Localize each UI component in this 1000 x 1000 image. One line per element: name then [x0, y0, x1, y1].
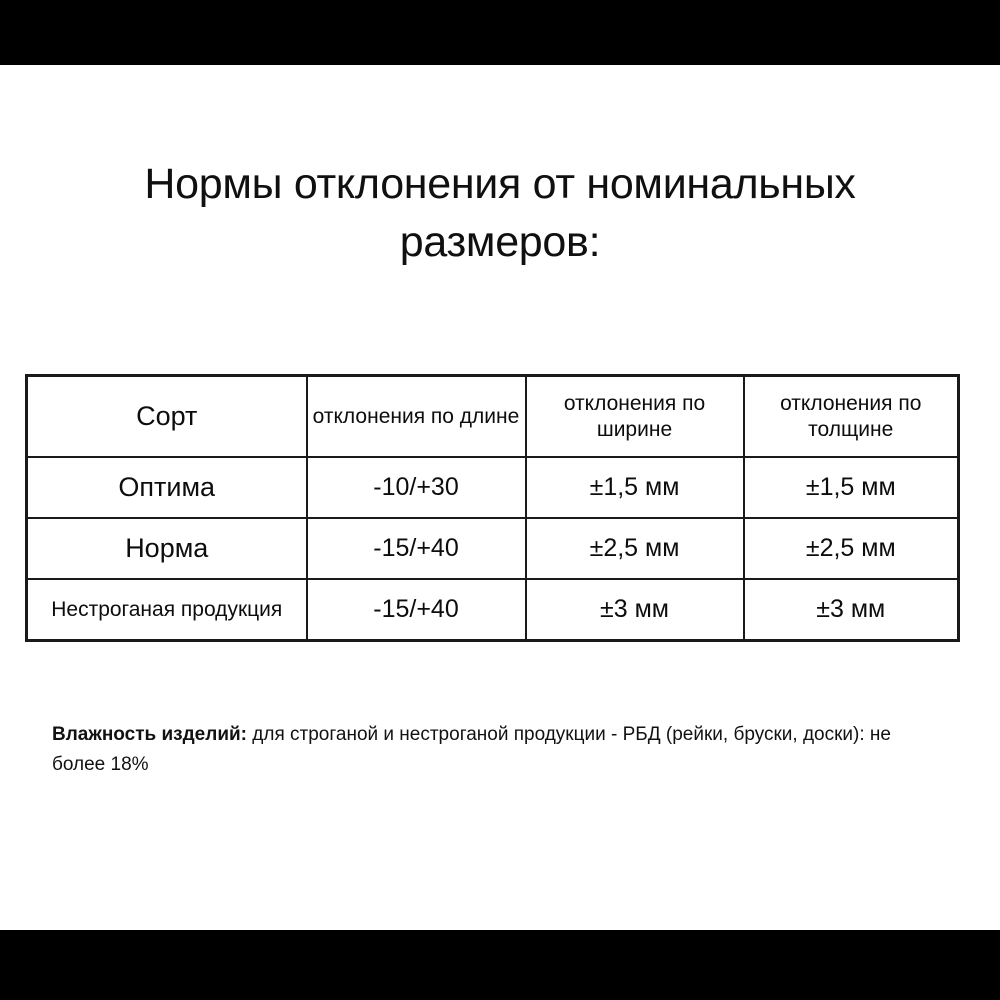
column-header-length-deviation: отклонения по длине	[307, 376, 526, 458]
cell-width-deviation: ±3 мм	[526, 579, 744, 641]
letterbox-bar-bottom	[0, 930, 1000, 1000]
table-row: Оптима -10/+30 ±1,5 мм ±1,5 мм	[27, 457, 959, 518]
cell-grade: Нестроганая продукция	[27, 579, 307, 641]
page-title-line-2: размеров:	[60, 213, 940, 271]
cell-grade: Оптима	[27, 457, 307, 518]
moisture-note: Влажность изделий: для строганой и нестр…	[52, 720, 932, 781]
table-header: Сорт отклонения по длине отклонения по ш…	[27, 376, 959, 458]
column-header-grade: Сорт	[27, 376, 307, 458]
cell-width-deviation: ±2,5 мм	[526, 518, 744, 579]
cell-width-deviation: ±1,5 мм	[526, 457, 744, 518]
page-title: Нормы отклонения от номинальных размеров…	[60, 155, 940, 271]
slide-page: Нормы отклонения от номинальных размеров…	[0, 0, 1000, 1000]
cell-length-deviation: -15/+40	[307, 518, 526, 579]
cell-length-deviation: -10/+30	[307, 457, 526, 518]
table-row: Нестроганая продукция -15/+40 ±3 мм ±3 м…	[27, 579, 959, 641]
cell-thickness-deviation: ±3 мм	[744, 579, 959, 641]
column-header-width-deviation: отклонения по ширине	[526, 376, 744, 458]
cell-thickness-deviation: ±1,5 мм	[744, 457, 959, 518]
cell-length-deviation: -15/+40	[307, 579, 526, 641]
column-header-thickness-deviation: отклонения по толщине	[744, 376, 959, 458]
moisture-note-lead: Влажность изделий:	[52, 724, 247, 745]
slide-canvas: Нормы отклонения от номинальных размеров…	[0, 65, 1000, 930]
page-title-line-1: Нормы отклонения от номинальных	[60, 155, 940, 213]
deviation-norms-table: Сорт отклонения по длине отклонения по ш…	[25, 374, 960, 642]
letterbox-bar-top	[0, 0, 1000, 65]
table-body: Оптима -10/+30 ±1,5 мм ±1,5 мм Норма -15…	[27, 457, 959, 641]
table-header-row: Сорт отклонения по длине отклонения по ш…	[27, 376, 959, 458]
table-row: Норма -15/+40 ±2,5 мм ±2,5 мм	[27, 518, 959, 579]
cell-thickness-deviation: ±2,5 мм	[744, 518, 959, 579]
cell-grade: Норма	[27, 518, 307, 579]
